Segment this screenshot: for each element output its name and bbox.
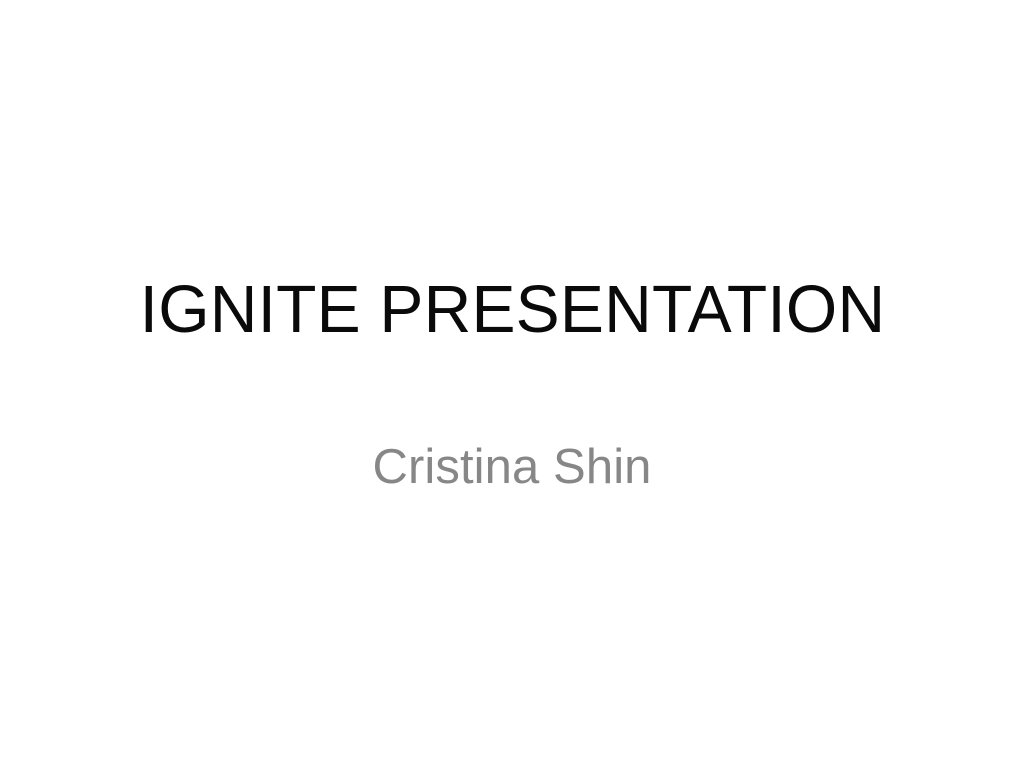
slide-subtitle: Cristina Shin	[372, 442, 651, 493]
title-placeholder[interactable]: IGNITE PRESENTATION	[96, 262, 928, 358]
subtitle-placeholder[interactable]: Cristina Shin	[96, 436, 928, 500]
slide-title: IGNITE PRESENTATION	[139, 276, 885, 344]
presentation-slide: IGNITE PRESENTATION Cristina Shin	[0, 0, 1024, 768]
